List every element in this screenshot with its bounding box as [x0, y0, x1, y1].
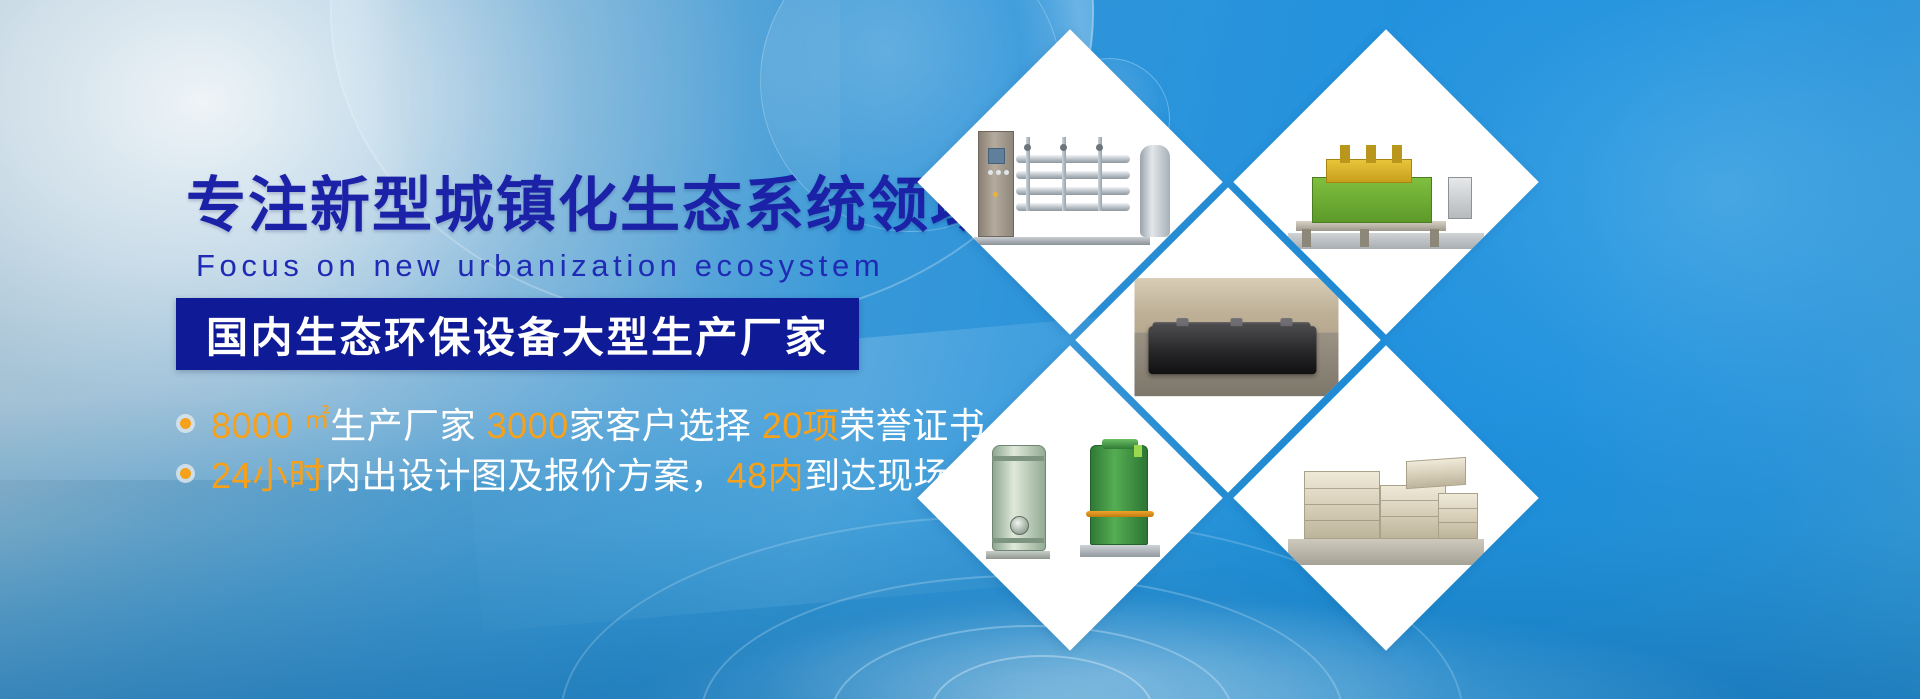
product-photo-integrated-tank — [1134, 278, 1338, 396]
feature-list: 8000 ㎡生产厂家 3000家客户选择 20项荣誉证书 24小时内出设计图及报… — [176, 398, 985, 498]
subtitle: Focus on new urbanization ecosystem — [196, 248, 884, 284]
feature-text-2: 24小时内出设计图及报价方案，48内到达现场 — [211, 447, 950, 499]
bullet-dot-icon — [176, 464, 195, 483]
highlight-box: 国内生态环保设备大型生产厂家 — [176, 298, 859, 370]
product-photo-aac-blocks — [1288, 431, 1484, 565]
list-item: 24小时内出设计图及报价方案，48内到达现场 — [176, 448, 985, 498]
list-item: 8000 ㎡生产厂家 3000家客户选择 20项荣誉证书 — [176, 398, 985, 448]
product-photo-ro-skid — [972, 115, 1168, 249]
page-title: 专注新型城镇化生态系统领域 — [186, 176, 992, 236]
product-gallery — [890, 0, 1920, 699]
highlight-box-label: 国内生态环保设备大型生产厂家 — [206, 304, 829, 365]
product-photo-frp-tank-pump — [972, 431, 1168, 565]
feature-text-1: 8000 ㎡生产厂家 3000家客户选择 20项荣誉证书 — [211, 397, 985, 449]
bullet-dot-icon — [176, 414, 195, 433]
product-photo-processing-machine — [1288, 115, 1484, 249]
banner-copy: 专注新型城镇化生态系统领域 Focus on new urbanization … — [0, 0, 960, 699]
promo-banner: 专注新型城镇化生态系统领域 Focus on new urbanization … — [0, 0, 1920, 699]
